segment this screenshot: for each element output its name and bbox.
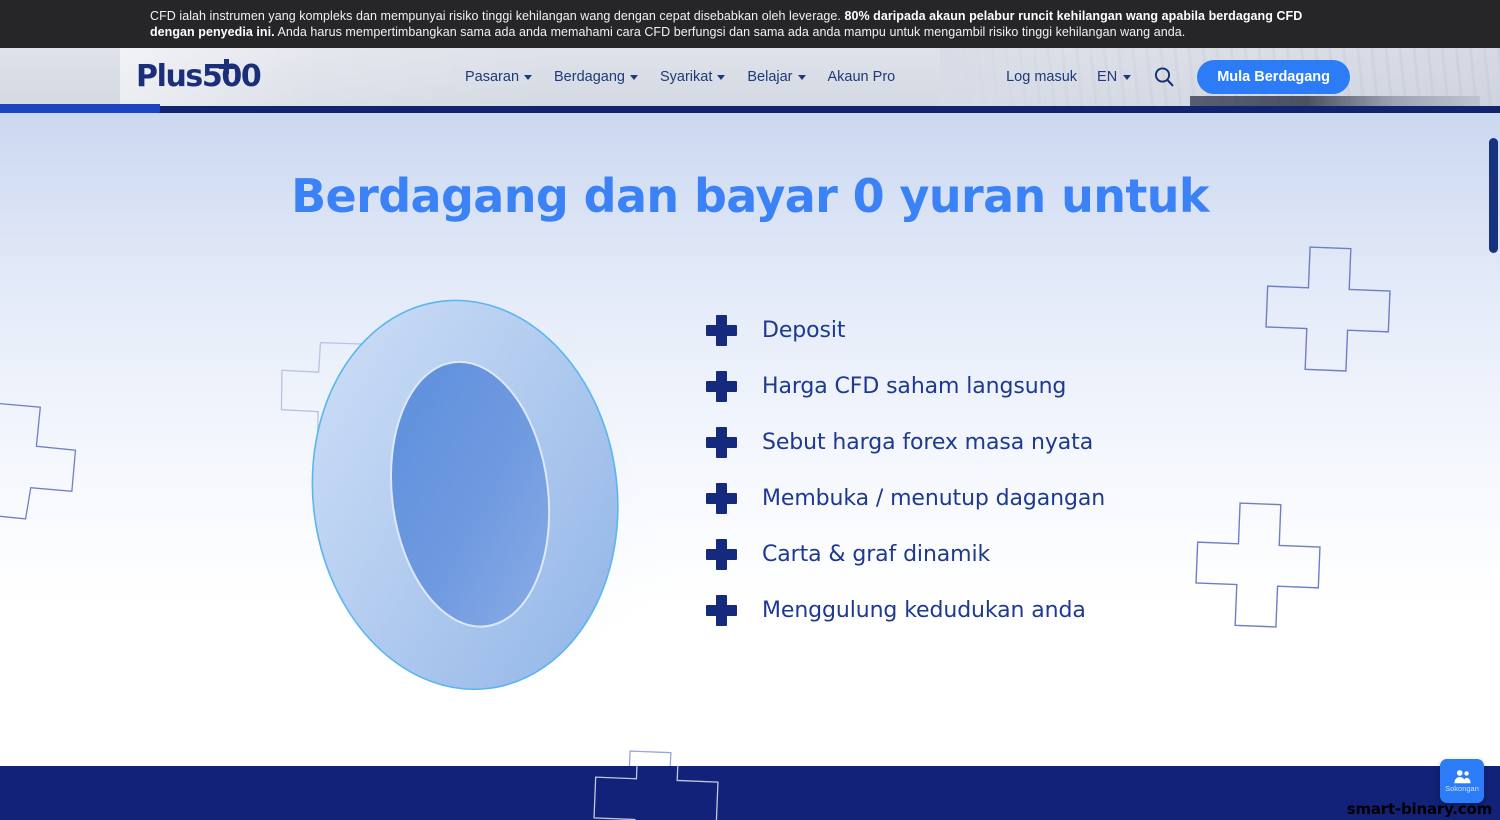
list-item: Sebut harga forex masa nyata [705, 425, 1105, 459]
footer-band [0, 766, 1500, 820]
feature-label: Deposit [762, 318, 845, 343]
people-icon [1453, 769, 1472, 784]
plus-icon [705, 482, 738, 515]
list-item: Deposit [705, 313, 1105, 347]
nav-item-belajar[interactable]: Belajar [747, 69, 805, 85]
plus500-logo[interactable]: Plus500 [136, 61, 286, 93]
main-navigation: Pasaran Berdagang Syarikat Belajar Akaun… [465, 48, 895, 106]
nav-label: Syarikat [660, 69, 712, 85]
plus-icon [705, 538, 738, 571]
nav-label: Belajar [747, 69, 792, 85]
risk-text-part2: Anda harus mempertimbangkan sama ada and… [275, 25, 1186, 39]
nav-item-berdagang[interactable]: Berdagang [554, 69, 638, 85]
plus-icon [219, 59, 234, 74]
feature-label: Carta & graf dinamik [762, 542, 990, 567]
risk-disclaimer-bar: CFD ialah instrumen yang kompleks dan me… [0, 0, 1500, 48]
feature-label: Menggulung kedudukan anda [762, 598, 1086, 623]
hero-section: Berdagang dan bayar 0 yuran untuk [0, 113, 1500, 766]
decorative-plus-icon [1202, 495, 1352, 655]
nav-label: Berdagang [554, 69, 625, 85]
chevron-down-icon [717, 75, 725, 80]
nav-item-syarikat[interactable]: Syarikat [660, 69, 725, 85]
login-link[interactable]: Log masuk [1006, 69, 1077, 85]
risk-disclaimer-text: CFD ialah instrumen yang kompleks dan me… [150, 8, 1350, 41]
risk-text-part1: CFD ialah instrumen yang kompleks dan me… [150, 9, 844, 23]
scrollbar-thumb[interactable] [1489, 138, 1498, 253]
header-accent-band [0, 106, 1500, 113]
support-label: Sokongan [1445, 785, 1479, 793]
chevron-down-icon [798, 75, 806, 80]
watermark: smart-binary.com [1347, 800, 1492, 818]
decorative-plus-icon [600, 766, 740, 820]
list-item: Membuka / menutup dagangan [705, 481, 1105, 515]
search-icon [1153, 66, 1175, 88]
plus-icon [705, 426, 738, 459]
feature-label: Membuka / menutup dagangan [762, 486, 1105, 511]
feature-label: Sebut harga forex masa nyata [762, 430, 1093, 455]
chevron-down-icon [630, 75, 638, 80]
nav-label: Pasaran [465, 69, 519, 85]
nav-item-akaun-pro[interactable]: Akaun Pro [828, 69, 896, 85]
decorative-plus-icon [592, 743, 732, 766]
search-button[interactable] [1151, 64, 1177, 90]
decorative-plus-icon [1272, 239, 1422, 394]
language-label: EN [1097, 69, 1117, 85]
feature-list: Deposit Harga CFD saham langsung Sebut h… [705, 313, 1105, 627]
plus-icon [705, 370, 738, 403]
support-button[interactable]: Sokongan [1440, 759, 1484, 803]
hero-headline: Berdagang dan bayar 0 yuran untuk [0, 169, 1500, 223]
nav-label: Akaun Pro [828, 69, 896, 85]
big-zero-graphic [265, 278, 705, 708]
list-item: Menggulung kedudukan anda [705, 593, 1105, 627]
decorative-plus-icon [0, 393, 90, 523]
list-item: Carta & graf dinamik [705, 537, 1105, 571]
start-trading-button[interactable]: Mula Berdagang [1197, 60, 1350, 94]
logo-text: Plus500 [136, 61, 286, 93]
plus-icon [705, 314, 738, 347]
chevron-down-icon [524, 75, 532, 80]
plus-icon [705, 594, 738, 627]
list-item: Harga CFD saham langsung [705, 369, 1105, 403]
nav-item-pasaran[interactable]: Pasaran [465, 69, 532, 85]
page-root: CFD ialah instrumen yang kompleks dan me… [0, 0, 1500, 820]
scrollbar[interactable] [1487, 48, 1500, 820]
chevron-down-icon [1123, 75, 1131, 80]
language-selector[interactable]: EN [1097, 69, 1131, 85]
feature-label: Harga CFD saham langsung [762, 374, 1066, 399]
header-accent-band-left [0, 104, 160, 113]
